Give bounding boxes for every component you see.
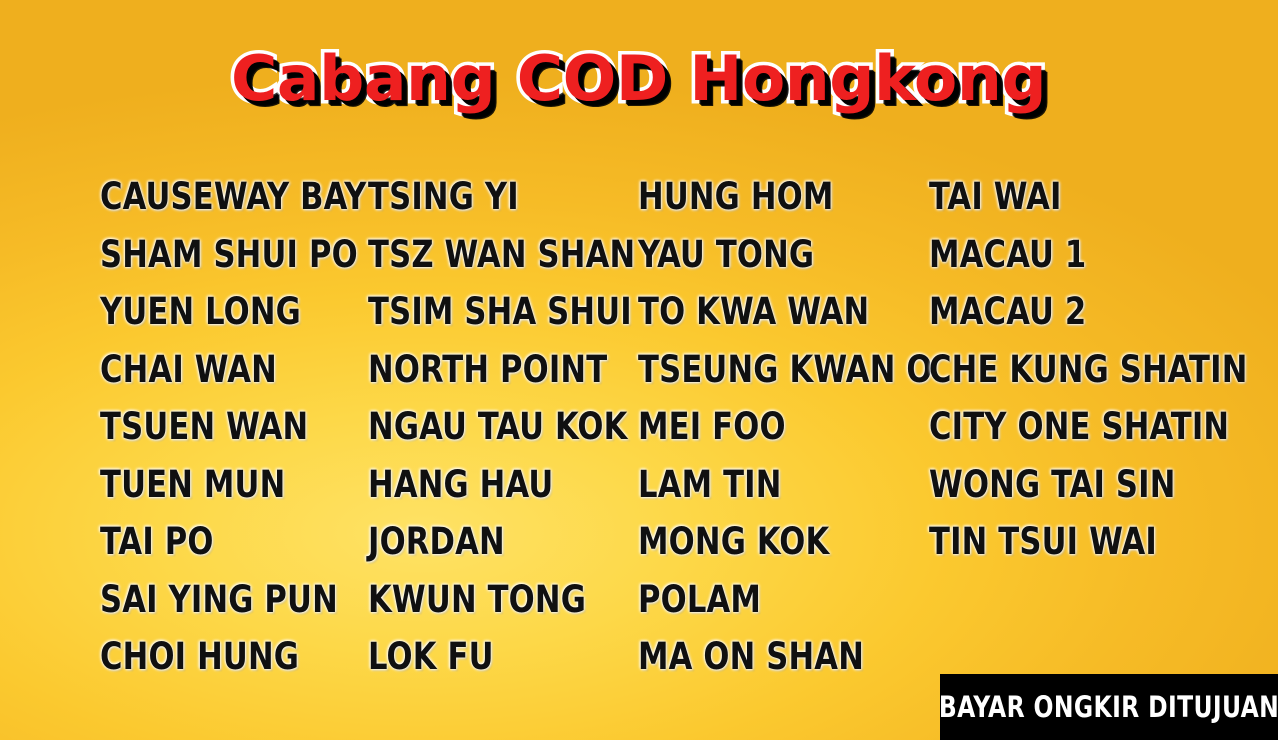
- branch-item: YAU TONG: [638, 230, 906, 288]
- page-title: Cabang COD Hongkong: [231, 48, 1046, 110]
- branch-item: TUEN MUN: [100, 460, 347, 518]
- branch-item: CHOI HUNG: [100, 632, 347, 690]
- branch-item: MACAU 2: [929, 287, 1205, 345]
- branch-column-4: TAI WAIMACAU 1MACAU 2CHE KUNG SHATINCITY…: [929, 172, 1229, 575]
- branch-item: TAI PO: [100, 517, 347, 575]
- branch-item: TSEUNG KWAN O: [638, 345, 906, 403]
- branch-item: TSIM SHA SHUI: [368, 287, 616, 345]
- branch-item: CITY ONE SHATIN: [929, 402, 1205, 460]
- branch-item: MACAU 1: [929, 230, 1205, 288]
- branch-item: TSZ WAN SHAN: [368, 230, 616, 288]
- status-banner: BAYAR ONGKIR DITUJUAN: [940, 674, 1278, 740]
- branch-item: TO KWA WAN: [638, 287, 906, 345]
- branch-item: CHAI WAN: [100, 345, 347, 403]
- branch-column-2: TSING YITSZ WAN SHANTSIM SHA SHUINORTH P…: [368, 172, 638, 690]
- branch-column-3: HUNG HOMYAU TONGTO KWA WANTSEUNG KWAN OM…: [638, 172, 929, 690]
- branch-item: YUEN LONG: [100, 287, 347, 345]
- branch-item: CAUSEWAY BAY: [100, 172, 347, 230]
- branch-item: JORDAN: [368, 517, 616, 575]
- branch-item: POLAM: [638, 575, 906, 633]
- branch-item: TSING YI: [368, 172, 616, 230]
- branch-item: MEI FOO: [638, 402, 906, 460]
- branch-item: SHAM SHUI PO: [100, 230, 347, 288]
- branch-item: LOK FU: [368, 632, 616, 690]
- branch-item: MA ON SHAN: [638, 632, 906, 690]
- branch-item: TIN TSUI WAI: [929, 517, 1205, 575]
- branch-item: KWUN TONG: [368, 575, 616, 633]
- branch-item: TAI WAI: [929, 172, 1205, 230]
- branch-item: NORTH POINT: [368, 345, 616, 403]
- branch-item: HUNG HOM: [638, 172, 906, 230]
- branch-item: TSUEN WAN: [100, 402, 347, 460]
- branch-item: LAM TIN: [638, 460, 906, 518]
- branch-item: MONG KOK: [638, 517, 906, 575]
- branch-item: SAI YING PUN: [100, 575, 347, 633]
- title-container: Cabang COD Hongkong: [0, 48, 1278, 110]
- status-banner-label: BAYAR ONGKIR DITUJUAN: [939, 690, 1278, 724]
- poster-canvas: Cabang COD Hongkong CAUSEWAY BAYSHAM SHU…: [0, 0, 1278, 740]
- branch-item: CHE KUNG SHATIN: [929, 345, 1205, 403]
- branch-item: WONG TAI SIN: [929, 460, 1205, 518]
- branch-item: NGAU TAU KOK: [368, 402, 616, 460]
- branch-item: HANG HAU: [368, 460, 616, 518]
- branch-column-1: CAUSEWAY BAYSHAM SHUI POYUEN LONGCHAI WA…: [100, 172, 368, 690]
- branch-list-grid: CAUSEWAY BAYSHAM SHUI POYUEN LONGCHAI WA…: [100, 172, 1238, 690]
